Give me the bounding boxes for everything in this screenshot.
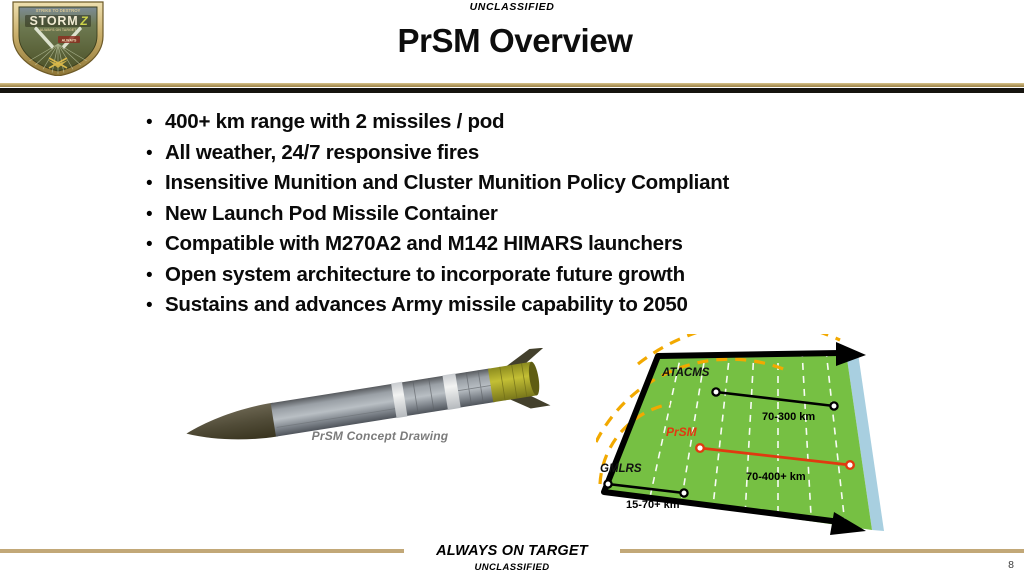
slide-canvas: UNCLASSIFIED [0, 0, 1024, 576]
list-item-label: New Launch Pod Missile Container [165, 202, 498, 226]
list-item: • Sustains and advances Army missile cap… [146, 293, 906, 324]
list-item: • New Launch Pod Missile Container [146, 202, 906, 233]
list-item: • Open system architecture to incorporat… [146, 263, 906, 294]
list-item-label: Insensitive Munition and Cluster Munitio… [165, 171, 729, 195]
missile-figure-caption: PrSM Concept Drawing [170, 429, 590, 443]
crest-sub-text: ALWAYS ON TARGET [40, 28, 78, 32]
classification-marking-bottom: UNCLASSIFIED [0, 562, 1024, 573]
bullet-marker-icon: • [146, 296, 165, 315]
bullet-marker-icon: • [146, 144, 165, 163]
storm-z-unit-crest-logo: STRIKE TO DESTROY STORM Z ALWAYS ON TARG… [8, 0, 108, 76]
bullet-marker-icon: • [146, 205, 165, 224]
range-value-atacms: 70-300 km [762, 411, 815, 423]
range-value-prsm: 70-400+ km [746, 471, 806, 483]
range-label-atacms: ATACMS [661, 367, 710, 379]
list-item-label: Open system architecture to incorporate … [165, 263, 685, 287]
header-divider-black [0, 88, 1024, 93]
range-comparison-diagram: ATACMS 70-300 km PrSM 70-400+ km GMLRS [596, 334, 896, 544]
crest-arc-text: STRIKE TO DESTROY [36, 8, 81, 13]
bullet-marker-icon: • [146, 235, 165, 254]
footer-motto: ALWAYS ON TARGET [404, 543, 620, 559]
footer-rule-left [0, 549, 404, 553]
list-item: • 400+ km range with 2 missiles / pod [146, 110, 906, 141]
bullet-list: • 400+ km range with 2 missiles / pod • … [146, 110, 906, 324]
header-divider-gold [0, 83, 1024, 87]
svg-text:ALWAYS: ALWAYS [62, 39, 77, 43]
range-label-gmlrs: GMLRS [600, 463, 642, 475]
list-item: • All weather, 24/7 responsive fires [146, 141, 906, 172]
list-item-label: Compatible with M270A2 and M142 HIMARS l… [165, 232, 683, 256]
bullet-marker-icon: • [146, 266, 165, 285]
classification-marking-top: UNCLASSIFIED [0, 1, 1024, 13]
crest-letter-z: Z [79, 14, 88, 28]
list-item-label: 400+ km range with 2 missiles / pod [165, 110, 504, 134]
bullet-marker-icon: • [146, 113, 165, 132]
bullet-marker-icon: • [146, 174, 165, 193]
footer-rule-right [620, 549, 1024, 553]
page-number: 8 [1008, 559, 1014, 571]
list-item: • Compatible with M270A2 and M142 HIMARS… [146, 232, 906, 263]
range-label-prsm: PrSM [666, 425, 698, 439]
crest-main-text: STORM [30, 14, 79, 28]
list-item: • Insensitive Munition and Cluster Munit… [146, 171, 906, 202]
list-item-label: Sustains and advances Army missile capab… [165, 293, 688, 317]
list-item-label: All weather, 24/7 responsive fires [165, 141, 479, 165]
range-value-gmlrs: 15-70+ km [626, 499, 680, 511]
page-title: PrSM Overview [120, 22, 910, 60]
